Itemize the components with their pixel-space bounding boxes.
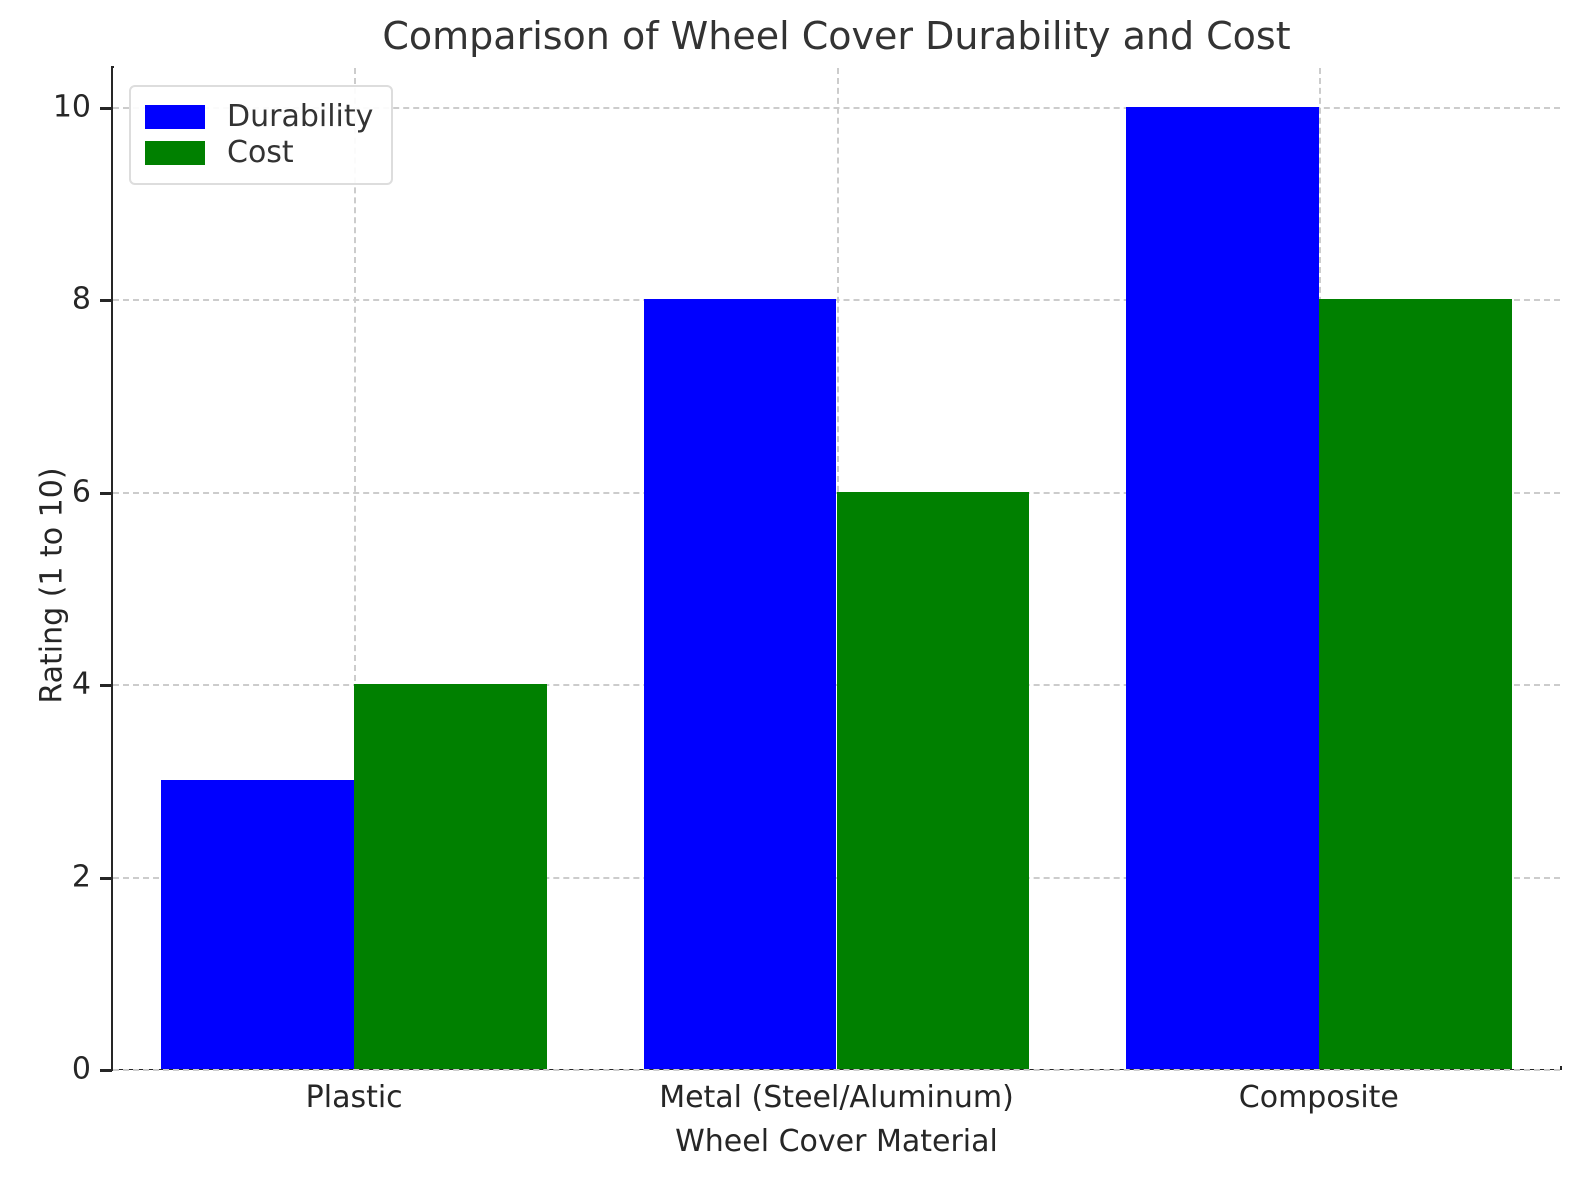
y-tick-label: 8 — [72, 282, 91, 317]
x-tick-label: Metal (Steel/Aluminum) — [659, 1080, 1014, 1115]
y-tick-label: 4 — [72, 667, 91, 702]
y-axis-label: Rating (1 to 10) — [35, 286, 70, 886]
y-tick-label: 6 — [72, 474, 91, 509]
plot-area — [113, 68, 1560, 1069]
y-tick-label: 10 — [53, 89, 91, 124]
y-tick-mark — [100, 299, 112, 302]
y-tick-mark — [100, 684, 112, 687]
legend-swatch-durability — [145, 105, 205, 129]
bar-metal-steel-aluminum-cost — [837, 492, 1030, 1070]
bar-composite-durability — [1126, 107, 1319, 1070]
bar-composite-cost — [1319, 299, 1512, 1069]
legend-label-durability: Durability — [227, 102, 373, 132]
y-tick-mark — [100, 492, 112, 495]
bar-plastic-durability — [161, 780, 354, 1069]
chart-figure: Comparison of Wheel Cover Durability and… — [0, 0, 1580, 1180]
chart-legend: Durability Cost — [129, 85, 393, 185]
bar-plastic-cost — [354, 684, 547, 1069]
x-tick-label: Plastic — [306, 1080, 403, 1115]
legend-item-cost: Cost — [145, 135, 373, 171]
x-axis-label: Wheel Cover Material — [113, 1124, 1560, 1159]
legend-item-durability: Durability — [145, 99, 373, 135]
x-tick-label: Composite — [1239, 1080, 1399, 1115]
y-tick-mark — [100, 877, 112, 880]
legend-swatch-cost — [145, 141, 205, 165]
y-tick-mark — [100, 1069, 112, 1072]
y-tick-label: 2 — [72, 859, 91, 894]
chart-title: Comparison of Wheel Cover Durability and… — [113, 14, 1560, 58]
y-tick-mark — [100, 107, 112, 110]
bar-metal-steel-aluminum-durability — [644, 299, 837, 1069]
legend-label-cost: Cost — [227, 138, 294, 168]
gridline-horizontal — [113, 1069, 1560, 1071]
y-tick-label: 0 — [72, 1052, 91, 1087]
